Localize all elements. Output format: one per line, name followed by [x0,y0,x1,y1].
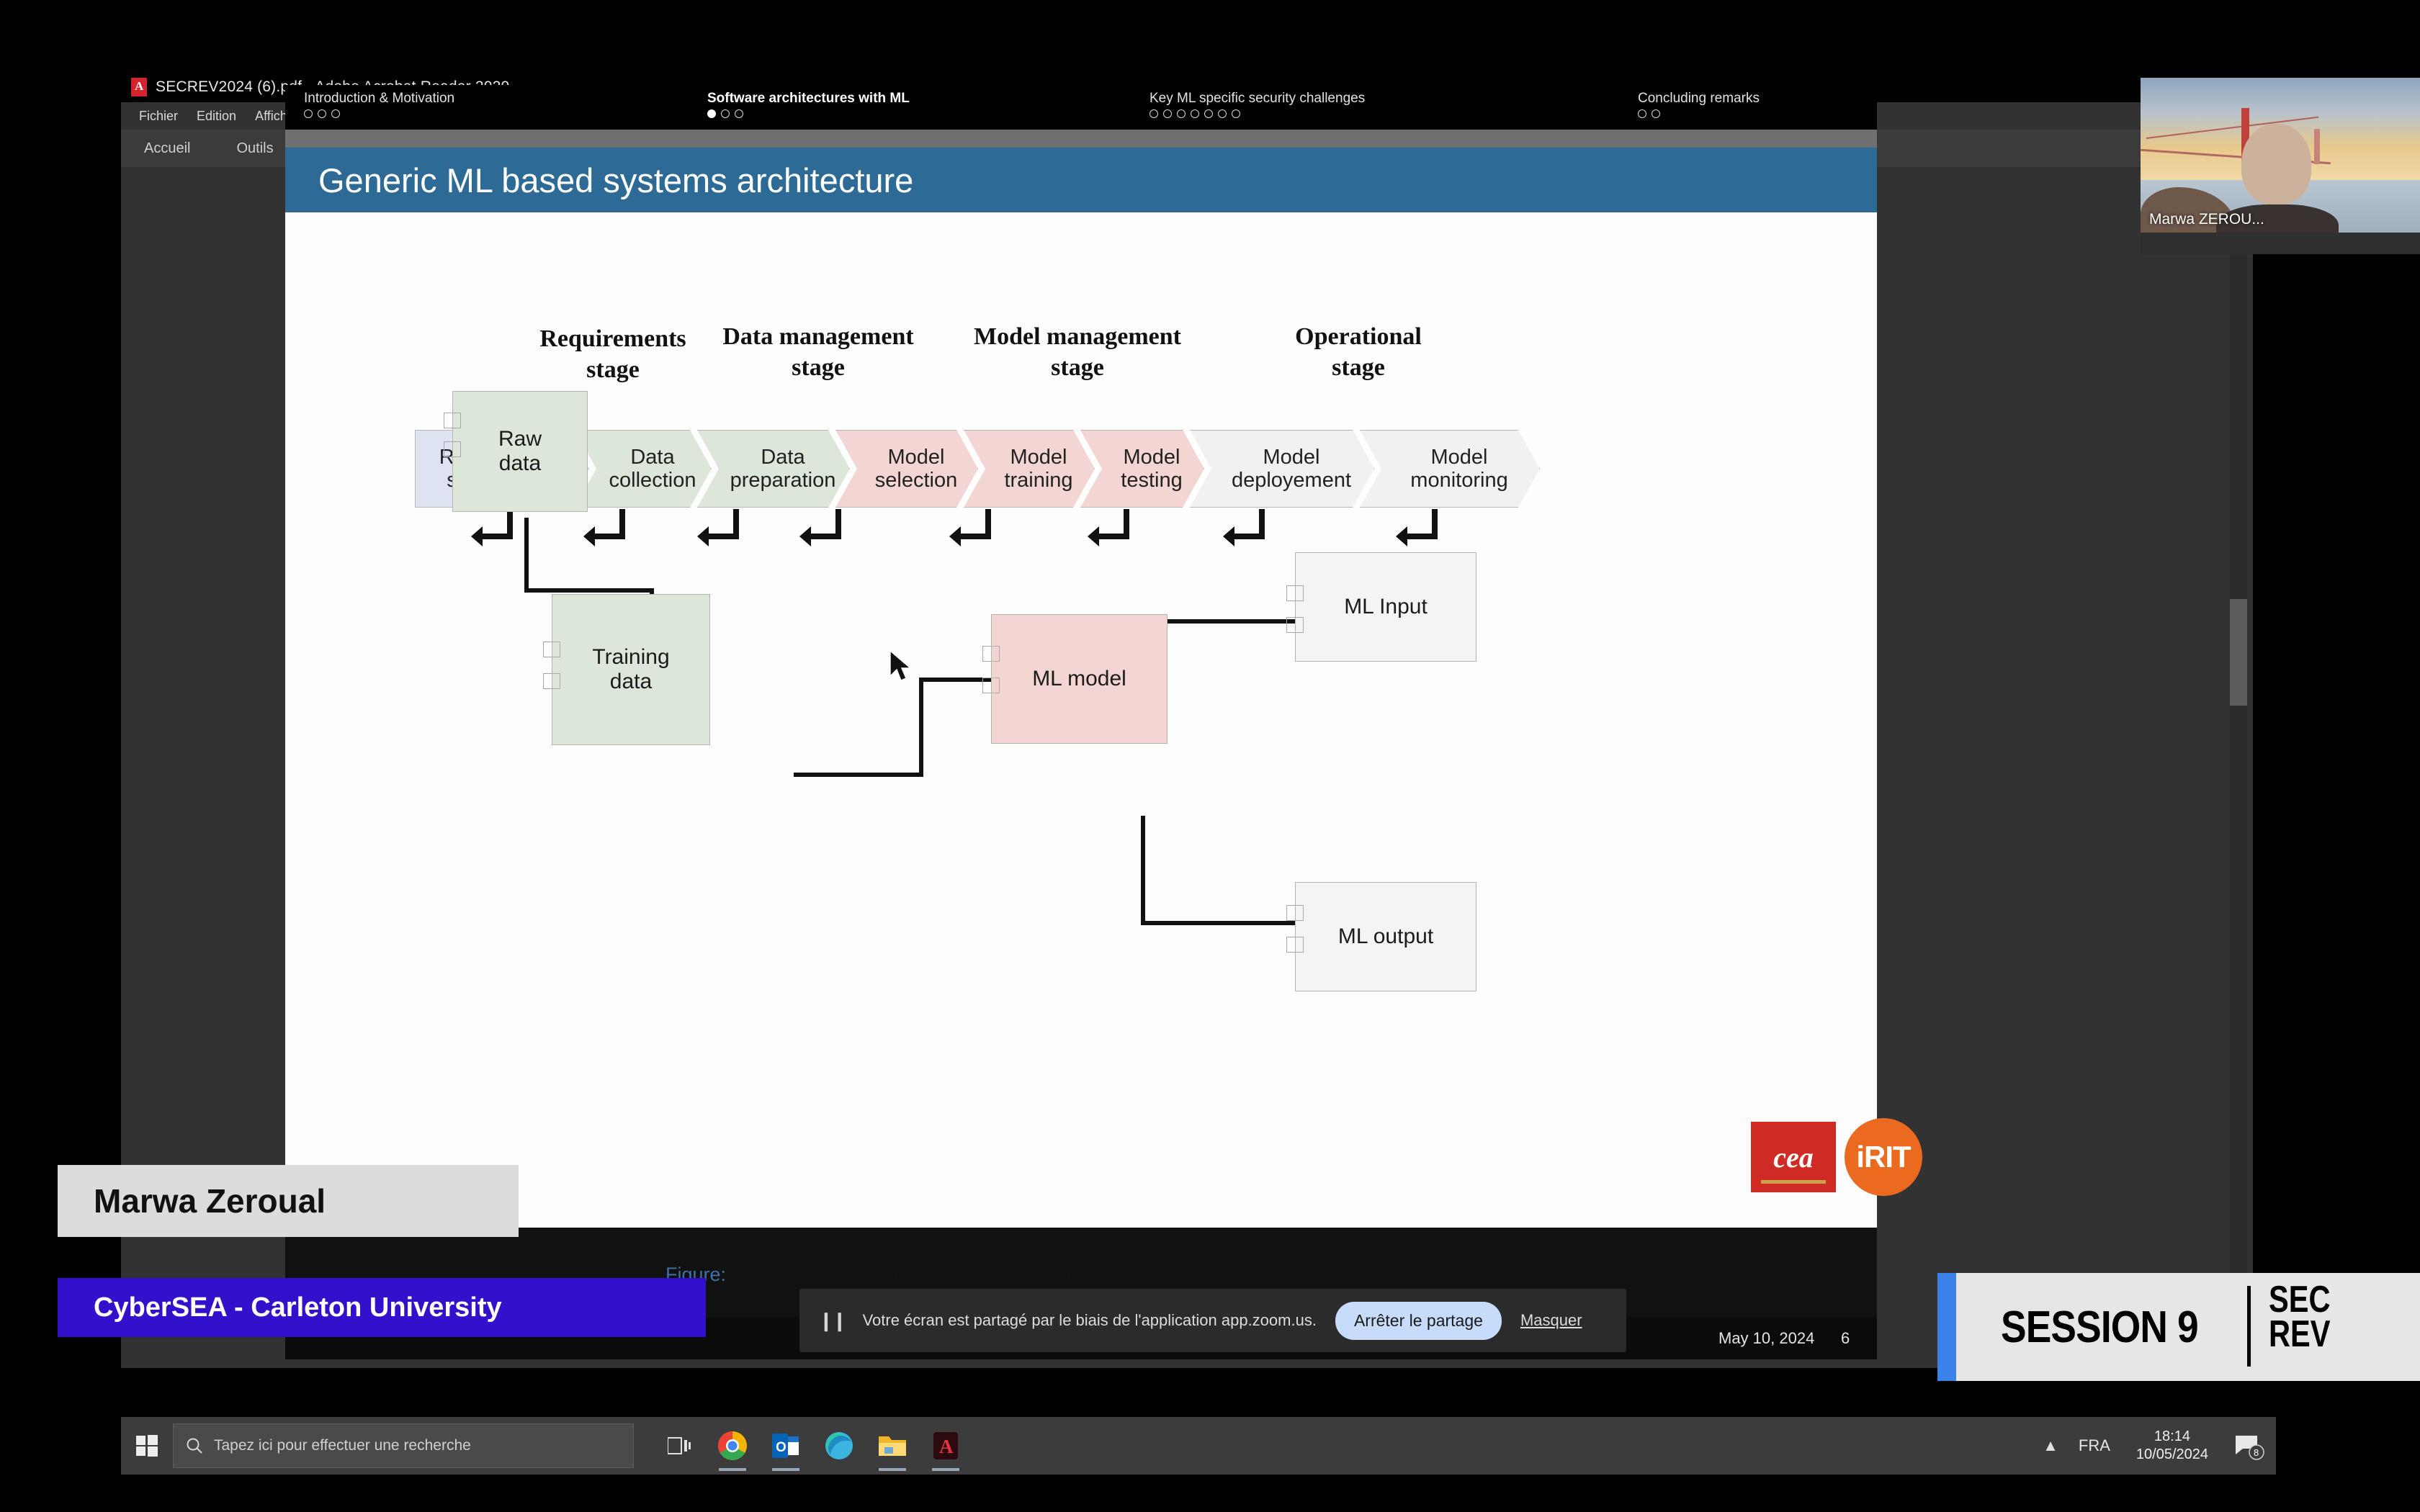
component-ml-input: ML Input [1295,552,1476,662]
feedback-arrow-icon [696,509,740,546]
nav-dots-concluding-remarks [1638,109,1660,118]
stage-heading-line1: Operational [1265,322,1452,353]
page-title: Generic ML based systems architecture [318,161,913,200]
pdf-icon [131,78,147,96]
cea-logo-text: cea [1773,1140,1814,1174]
feedback-arrow-icon [582,509,627,546]
speaker-name: Marwa Zeroual [94,1182,326,1220]
pipeline-step-model-selection: Model selection [835,430,978,508]
wire-rawdata-training-h [524,588,654,593]
nav-dot [721,109,730,118]
step-line2: testing [1121,469,1182,492]
app-running-indicator [879,1468,906,1471]
cea-logo: cea [1751,1122,1836,1192]
session-badge-accent [1937,1273,1956,1381]
step-line1: Model [1121,446,1182,469]
clock[interactable]: 18:14 10/05/2024 [2136,1428,2208,1464]
stage-heading-operational: Operational stage [1265,322,1452,383]
app-running-indicator [719,1468,746,1471]
wire-training-mlmodel-v [919,678,923,777]
participant-name: Marwa ZEROU... [2149,211,2264,228]
hide-share-bar-button[interactable]: Masquer [1520,1311,1582,1330]
pdf-slide: Introduction & Motivation Software archi… [285,85,1877,1359]
port-square [1286,905,1304,921]
svg-text:A: A [939,1436,954,1457]
windows-taskbar: Tapez ici pour effectuer une recherche O… [121,1417,2276,1475]
pipeline-step-data-preparation: Data preparation [697,430,850,508]
session-badge: SESSION 9 SEC REV [1937,1273,2420,1381]
tray-expand-icon[interactable]: ▲ [2043,1437,2058,1455]
vertical-scrollbar-thumb[interactable] [2230,599,2247,706]
screen-share-message: Votre écran est partagé par le biais de … [863,1311,1317,1330]
nav-dots-introduction [304,109,340,118]
step-line1: Model [1410,446,1507,469]
feedback-arrow-icon [1394,509,1439,546]
participant-face [2241,124,2311,205]
menu-item-edition[interactable]: Edition [187,106,246,127]
tab-accueil[interactable]: Accueil [121,130,213,167]
component-line1: ML output [1338,924,1433,949]
nav-dot [1638,109,1646,118]
task-view-icon[interactable] [653,1417,706,1475]
feedback-arrow-icon [1086,509,1131,546]
secrev-brand: SEC REV [2269,1283,2331,1352]
port-square [543,642,560,657]
step-line2: deployement [1232,469,1351,492]
outlook-icon[interactable]: O [759,1417,812,1475]
port-square [982,646,1000,662]
component-line1: ML Input [1344,595,1428,619]
chrome-icon[interactable] [706,1417,759,1475]
stage-heading-line1: Requirements [523,324,703,355]
nav-dots-software-architectures [707,109,743,118]
irit-logo-text: iRIT [1856,1140,1910,1174]
cea-logo-bar [1761,1180,1826,1184]
nav-dot [1191,109,1199,118]
nav-dot [304,109,313,118]
feedback-arrow-icon [798,509,843,546]
app-running-indicator [932,1468,959,1471]
search-placeholder: Tapez ici pour effectuer une recherche [214,1437,471,1454]
svg-text:8: 8 [2254,1447,2259,1458]
nav-dot [1177,109,1186,118]
component-raw-data: Raw data [452,391,588,512]
stage-heading-model-management: Model management stage [962,322,1193,383]
nav-dot-active [707,109,716,118]
step-line1: Model [1232,446,1351,469]
feedback-arrow-icon [470,509,514,546]
clock-date: 10/05/2024 [2136,1446,2208,1464]
stop-share-button[interactable]: Arrêter le partage [1335,1302,1502,1340]
port-square [1286,617,1304,633]
stage-heading-line2: stage [523,355,703,386]
nav-separator [285,130,1877,148]
nav-dot [1163,109,1172,118]
stage-heading-line1: Data management [710,322,926,353]
file-explorer-icon[interactable] [866,1417,919,1475]
speaker-organization-banner: CyberSEA - Carleton University [58,1278,706,1337]
speaker-name-banner: Marwa Zeroual [58,1165,519,1237]
slide-title-bar: Generic ML based systems architecture [285,148,1877,212]
stage-heading-line2: stage [710,353,926,384]
language-indicator[interactable]: FRA [2079,1436,2110,1455]
stage-heading-line1: Model management [962,322,1193,353]
mouse-cursor-icon [889,650,913,683]
component-line1: Raw [498,427,542,451]
slide-section-nav: Introduction & Motivation Software archi… [285,85,1877,130]
webcam-video-tile[interactable]: Marwa ZEROU... [2141,78,2420,254]
nav-dots-security-challenges [1149,109,1240,118]
step-line2: preparation [730,469,836,492]
windows-start-icon[interactable] [121,1435,173,1457]
port-square [543,673,560,689]
search-input[interactable]: Tapez ici pour effectuer une recherche [173,1423,634,1468]
stage-heading-line2: stage [962,353,1193,384]
acrobat-icon[interactable]: A [919,1417,972,1475]
component-ml-output: ML output [1295,882,1476,991]
figure-caption-text: Components of generic ML systems with re… [732,1264,1428,1285]
step-line2: selection [875,469,957,492]
feedback-arrow-icon [1222,509,1266,546]
svg-text:O: O [776,1440,786,1455]
step-line2: collection [609,469,696,492]
menu-item-fichier[interactable]: Fichier [130,106,187,127]
pipeline-step-data-collection: Data collection [575,430,712,508]
wire-rawdata-training-v1 [524,518,529,593]
nav-dot [1232,109,1240,118]
figure-caption: Figure: Components of generic ML systems… [665,1264,1428,1286]
notifications-icon[interactable]: 8 [2233,1430,2264,1462]
zoom-screen-share-bar: ❙❙ Votre écran est partagé par le biais … [799,1289,1626,1352]
session-number: SESSION 9 [2001,1302,2198,1353]
app-running-indicator [772,1468,799,1471]
component-line1: Training [592,645,669,670]
pipeline-step-model-testing: Model testing [1080,430,1204,508]
nav-section-introduction[interactable]: Introduction & Motivation [304,91,454,107]
edge-icon[interactable] [812,1417,866,1475]
pipeline-step-model-training: Model training [964,430,1095,508]
nav-dot [331,109,340,118]
pipeline-step-model-deployment: Model deployement [1190,430,1374,508]
component-line2: data [498,451,542,476]
nav-dot [1652,109,1660,118]
system-tray: ▲ FRA 18:14 10/05/2024 8 [2043,1417,2276,1475]
component-line1: ML model [1032,667,1126,691]
stage-heading-requirements: Requirements stage [523,324,703,385]
bridge-tower-far [2314,129,2320,164]
secrev-brand-line2: REV [2269,1318,2331,1352]
component-training-data: Training data [552,594,710,745]
step-line1: Data [730,446,836,469]
secrev-brand-line1: SEC [2269,1283,2331,1318]
slide-footer-page: 6 [1841,1329,1850,1348]
slide-footer-date: May 10, 2024 [1718,1329,1814,1348]
port-square [444,441,461,457]
wire-training-mlmodel-h1 [794,773,923,777]
session-badge-divider [2247,1286,2251,1367]
nav-dot [318,109,326,118]
slide-content: Requirements stage Data management stage… [285,212,1877,1228]
pause-icon[interactable]: ❙❙ [818,1310,846,1332]
nav-section-software-architectures[interactable]: Software architectures with ML [707,91,910,107]
step-line1: Model [875,446,957,469]
nav-section-security-challenges[interactable]: Key ML specific security challenges [1149,91,1365,107]
port-square [444,413,461,428]
port-square [1286,937,1304,953]
feedback-arrow-icon [948,509,992,546]
component-ml-model: ML model [991,614,1168,744]
irit-logo: iRIT [1845,1118,1922,1196]
nav-dot [1149,109,1158,118]
port-square [1286,585,1304,601]
step-line1: Model [1004,446,1072,469]
search-icon [185,1436,204,1455]
webcam-bottom-strip [2141,233,2420,254]
nav-dot [735,109,743,118]
port-square [982,678,1000,693]
step-line2: monitoring [1410,469,1507,492]
stage-heading-data-management: Data management stage [710,322,926,383]
speaker-organization: CyberSEA - Carleton University [94,1292,502,1323]
stage-heading-line2: stage [1265,353,1452,384]
clock-time: 18:14 [2136,1428,2208,1446]
step-line2: training [1004,469,1072,492]
vertical-scrollbar[interactable] [2230,167,2247,1368]
tab-outils[interactable]: Outils [213,130,296,167]
step-line1: Data [609,446,696,469]
wire-mlmodel-mloutput-v [1141,816,1145,925]
nav-dot [1204,109,1213,118]
component-line2: data [592,670,669,694]
nav-section-concluding-remarks[interactable]: Concluding remarks [1638,91,1760,107]
pipeline-step-model-monitoring: Model monitoring [1360,430,1540,508]
wire-mlmodel-mloutput-h [1141,921,1296,925]
nav-dot [1218,109,1227,118]
